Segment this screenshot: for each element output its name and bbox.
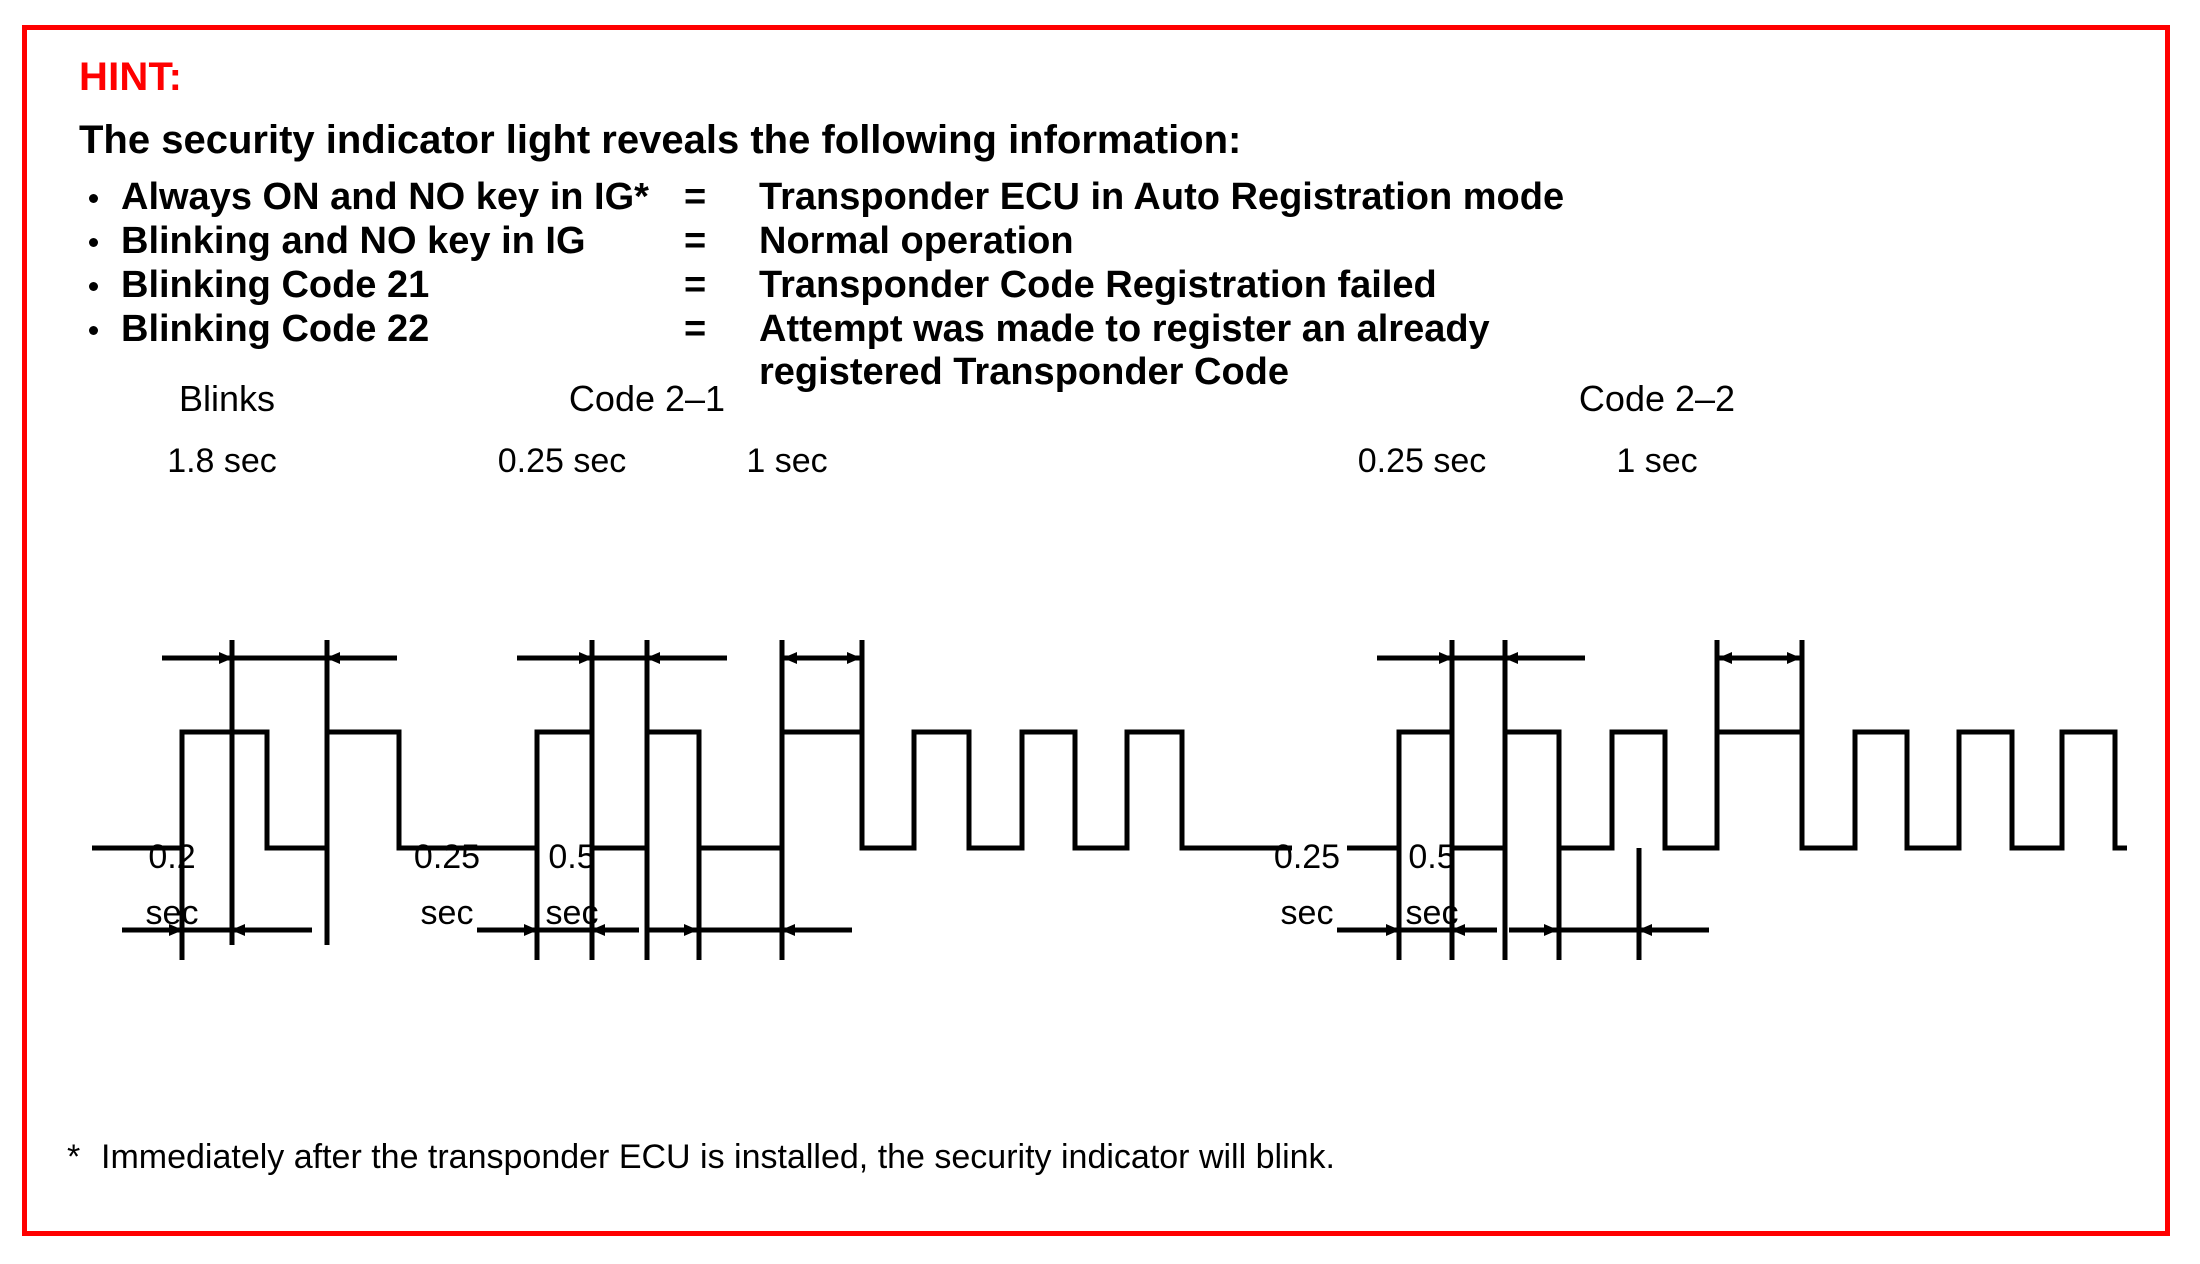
bullet-description: Transponder Code Registration failed [759, 264, 1437, 307]
bullet-equals-sign: = [684, 264, 706, 307]
hint-title: HINT: [79, 55, 182, 100]
bullet-dot-icon [89, 194, 98, 203]
bullet-label: Blinking Code 22 [121, 308, 429, 351]
waveform-title-code-2-2: Code 2–2 [1537, 378, 1777, 420]
bullet-equals-sign: = [684, 308, 706, 351]
footnote-marker: * [67, 1138, 101, 1177]
bullet-dot-icon [89, 326, 98, 335]
bullet-label: Always ON and NO key in IG* [121, 176, 649, 219]
waveform-title-blinks: Blinks [127, 378, 327, 420]
bullet-label: Blinking and NO key in IG [121, 220, 586, 263]
dimension-label-0-25-sec-code21: 0.25 sec [447, 442, 677, 481]
dimension-label-0-25-sec-code22: 0.25 sec [1307, 442, 1537, 481]
bullet-description: Transponder ECU in Auto Registration mod… [759, 176, 1564, 219]
bullet-description: Normal operation [759, 220, 1074, 263]
dimension-label-1-8-sec: 1.8 sec [112, 442, 332, 481]
bullet-equals-sign: = [684, 176, 706, 219]
waveform-diagram-group: Blinks Code 2–1 Code 2–2 1.8 sec 0.25 se… [27, 360, 2165, 1110]
footnote: *Immediately after the transponder ECU i… [67, 1138, 1335, 1177]
footnote-text: Immediately after the transponder ECU is… [101, 1138, 1335, 1176]
list-item: Always ON and NO key in IG* = Transponde… [79, 176, 2109, 220]
list-item: Blinking and NO key in IG = Normal opera… [79, 220, 2109, 264]
waveform-svg-canvas [27, 490, 2165, 990]
waveform-code-2-2 [1337, 640, 2127, 960]
bullet-label: Blinking Code 21 [121, 264, 429, 307]
bullet-equals-sign: = [684, 220, 706, 263]
dimension-label-1-sec-code21: 1 sec [702, 442, 872, 481]
waveform-code-2-1 [477, 640, 1292, 960]
hint-intro-text: The security indicator light reveals the… [79, 118, 1241, 163]
dimension-label-1-sec-code22: 1 sec [1572, 442, 1742, 481]
bullet-dot-icon [89, 282, 98, 291]
bullet-dot-icon [89, 238, 98, 247]
waveform-blinks [92, 640, 497, 960]
list-item: Blinking Code 21 = Transponder Code Regi… [79, 264, 2109, 308]
hint-panel: HINT: The security indicator light revea… [22, 25, 2170, 1236]
waveform-title-code-2-1: Code 2–1 [527, 378, 767, 420]
